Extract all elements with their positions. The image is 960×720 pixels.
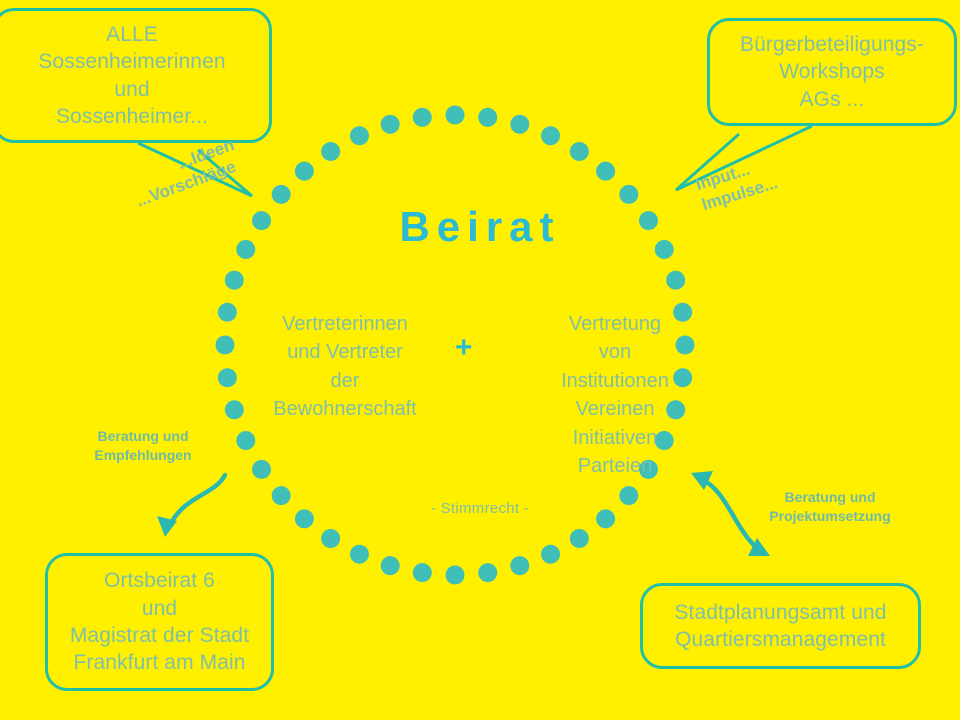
- box-ortsbeirat-magistrat[interactable]: Ortsbeirat 6 und Magistrat der Stadt Fra…: [45, 553, 274, 691]
- ring-dot: [272, 185, 291, 204]
- label-line: Projektumsetzung: [769, 508, 890, 524]
- box-line: Quartiersmanagement: [675, 626, 886, 653]
- label-beratung-und-empfehlungen: Beratung und Empfehlungen: [78, 427, 208, 465]
- column-line: Institutionen: [525, 367, 705, 395]
- ring-dot: [596, 162, 615, 181]
- bubble-alle-sossenheimer[interactable]: ALLE Sossenheimerinnen und Sossenheimer.…: [0, 8, 272, 143]
- ring-dot: [478, 108, 497, 127]
- ring-dot: [413, 108, 432, 127]
- ring-dot: [216, 336, 235, 355]
- ring-dot: [236, 431, 255, 450]
- label-beratung-und-projektumsetzung: Beratung und Projektumsetzung: [750, 488, 910, 526]
- ring-dot: [619, 185, 638, 204]
- diagram-canvas: ALLE Sossenheimerinnen und Sossenheimer.…: [0, 0, 960, 720]
- ring-dot: [570, 529, 589, 548]
- ring-dot: [446, 106, 465, 125]
- box-line: Frankfurt am Main: [73, 649, 245, 676]
- bubble-line: Bürgerbeteiligungs-: [740, 31, 924, 58]
- column-institutionen: Vertretung von Institutionen Vereinen In…: [525, 310, 705, 480]
- ring-dot: [541, 126, 560, 145]
- column-line: Bewohnerschaft: [255, 395, 435, 423]
- column-line: Vereinen: [525, 395, 705, 423]
- bubble-line: Workshops: [779, 58, 885, 85]
- ring-dot: [350, 545, 369, 564]
- column-line: Parteien: [525, 452, 705, 480]
- ring-dot: [225, 400, 244, 419]
- ring-dot: [570, 142, 589, 161]
- column-bewohnerschaft: Vertreterinnen und Vertreter der Bewohne…: [255, 310, 435, 424]
- ring-dot: [541, 545, 560, 564]
- ring-dot: [446, 566, 465, 585]
- column-line: Vertretung: [525, 310, 705, 338]
- ring-dot: [321, 142, 340, 161]
- label-line: Empfehlungen: [94, 447, 191, 463]
- label-line: Beratung und: [785, 489, 876, 505]
- bubble-line: ALLE: [106, 21, 158, 48]
- bubble-line: AGs ...: [800, 86, 865, 113]
- page-title: Beirat: [0, 203, 960, 251]
- ring-dot: [510, 556, 529, 575]
- annotation-ideen-vorschlaege: ...Ideen ...Vorschläge: [126, 134, 244, 212]
- ring-dot: [381, 556, 400, 575]
- beirat-composition: Vertreterinnen und Vertreter der Bewohne…: [255, 310, 705, 480]
- box-line: Stadtplanungsamt und: [674, 599, 886, 626]
- label-line: Beratung und: [98, 428, 189, 444]
- plus-icon: +: [455, 333, 473, 363]
- column-line: Initiativen: [525, 424, 705, 452]
- box-line: Ortsbeirat 6: [104, 567, 215, 594]
- column-line: der: [255, 367, 435, 395]
- ring-dot: [510, 115, 529, 134]
- ring-dot: [218, 368, 237, 387]
- box-line: und: [142, 595, 177, 622]
- box-line: Magistrat der Stadt: [70, 622, 249, 649]
- ring-dot: [478, 563, 497, 582]
- box-stadtplanungsamt-quartiersmanagement[interactable]: Stadtplanungsamt und Quartiersmanagement: [640, 583, 921, 669]
- bubble-line: Sossenheimer...: [56, 103, 208, 130]
- bubble-buergerbeteiligungs-workshops[interactable]: Bürgerbeteiligungs- Workshops AGs ...: [707, 18, 957, 126]
- ring-dot: [666, 271, 685, 290]
- column-line: Vertreterinnen: [255, 310, 435, 338]
- ring-dot: [413, 563, 432, 582]
- ring-dot: [350, 126, 369, 145]
- bubble-line: Sossenheimerinnen: [38, 48, 225, 75]
- ring-dot: [218, 303, 237, 322]
- ring-dot: [225, 271, 244, 290]
- ring-dot: [381, 115, 400, 134]
- column-line: von: [525, 338, 705, 366]
- ring-dot: [295, 162, 314, 181]
- ring-dot: [321, 529, 340, 548]
- bubble-line: und: [114, 76, 149, 103]
- column-line: und Vertreter: [255, 338, 435, 366]
